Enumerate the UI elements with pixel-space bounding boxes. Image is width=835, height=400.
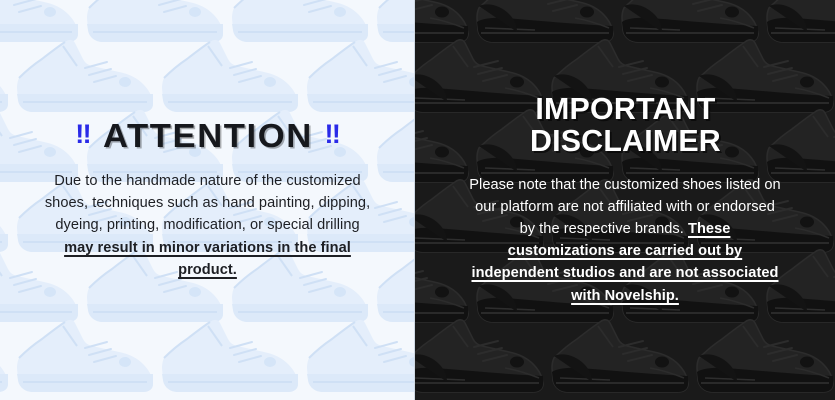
disclaimer-heading-line-2: DISCLAIMER (529, 125, 720, 157)
attention-body-emphasis: may result in minor variations in the fi… (64, 240, 351, 278)
attention-heading-text: ATTENTION (103, 119, 313, 152)
double-exclamation-left-icon: ‼ (75, 121, 90, 148)
attention-content: ‼ ATTENTION ‼ Due to the handmade nature… (0, 0, 415, 400)
attention-body: Due to the handmade nature of the custom… (43, 170, 373, 281)
attention-heading: ‼ ATTENTION ‼ (75, 119, 340, 152)
disclaimer-panel: IMPORTANT DISCLAIMER Please note that th… (415, 0, 835, 400)
attention-body-normal: Due to the handmade nature of the custom… (45, 173, 370, 233)
disclaimer-heading: IMPORTANT DISCLAIMER (529, 93, 720, 157)
attention-panel: ‼ ATTENTION ‼ Due to the handmade nature… (0, 0, 415, 400)
customization-notice-banner: ‼ ATTENTION ‼ Due to the handmade nature… (0, 0, 835, 400)
disclaimer-body-normal: Please note that the customized shoes li… (469, 177, 780, 237)
double-exclamation-right-icon: ‼ (324, 121, 339, 148)
disclaimer-heading-line-1: IMPORTANT (529, 93, 720, 125)
disclaimer-content: IMPORTANT DISCLAIMER Please note that th… (415, 0, 835, 400)
disclaimer-body: Please note that the customized shoes li… (466, 174, 784, 307)
